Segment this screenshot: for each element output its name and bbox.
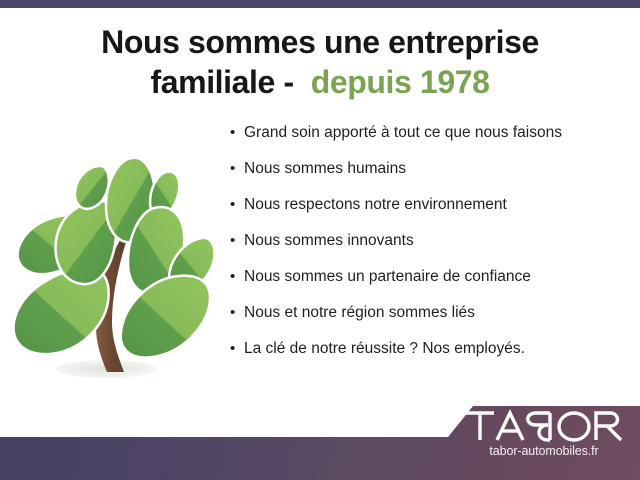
list-item: • Nous sommes un partenaire de confiance: [230, 268, 630, 304]
list-item: • Nous sommes humains: [230, 160, 630, 196]
brand-logo: tabor-automobiles.fr: [464, 409, 624, 458]
list-item-label: Nous respectons notre environnement: [244, 196, 630, 215]
slide-canvas: Nous sommes une entreprise familiale - d…: [0, 0, 640, 480]
bullet-dot-icon: •: [230, 196, 244, 214]
list-item: • Grand soin apporté à tout ce que nous …: [230, 124, 630, 160]
bullet-dot-icon: •: [230, 268, 244, 286]
footer: tabor-automobiles.fr: [0, 395, 640, 480]
list-item-label: Nous sommes innovants: [244, 232, 630, 251]
title-line-2-main: familiale: [150, 64, 274, 100]
title-line-1: Nous sommes une entreprise: [26, 22, 614, 62]
bullet-dot-icon: •: [230, 124, 244, 142]
list-item: • Nous et notre région sommes liés: [230, 304, 630, 340]
bullet-dot-icon: •: [230, 232, 244, 250]
list-item-label: Grand soin apporté à tout ce que nous fa…: [244, 124, 630, 143]
brand-domain: tabor-automobiles.fr: [464, 444, 624, 458]
list-item: • Nous sommes innovants: [230, 232, 630, 268]
title-line-2: familiale - depuis 1978: [26, 62, 614, 102]
bullet-dot-icon: •: [230, 340, 244, 358]
list-item: • La clé de notre réussite ? Nos employé…: [230, 340, 630, 376]
list-item-label: Nous sommes un partenaire de confiance: [244, 268, 630, 287]
list-item-label: La clé de notre réussite ? Nos employés.: [244, 340, 630, 359]
list-item-label: Nous sommes humains: [244, 160, 630, 179]
page-title: Nous sommes une entreprise familiale - d…: [0, 22, 640, 103]
title-accent: depuis 1978: [311, 64, 490, 100]
list-item-label: Nous et notre région sommes liés: [244, 304, 630, 323]
tree-illustration: [8, 150, 226, 390]
value-list: • Grand soin apporté à tout ce que nous …: [230, 124, 630, 376]
top-accent-bar: [0, 0, 640, 8]
bullet-dot-icon: •: [230, 160, 244, 178]
list-item: • Nous respectons notre environnement: [230, 196, 630, 232]
leaf: [121, 276, 210, 358]
tabor-wordmark-icon: [464, 409, 624, 443]
bullet-dot-icon: •: [230, 304, 244, 322]
title-dash: -: [283, 64, 293, 100]
